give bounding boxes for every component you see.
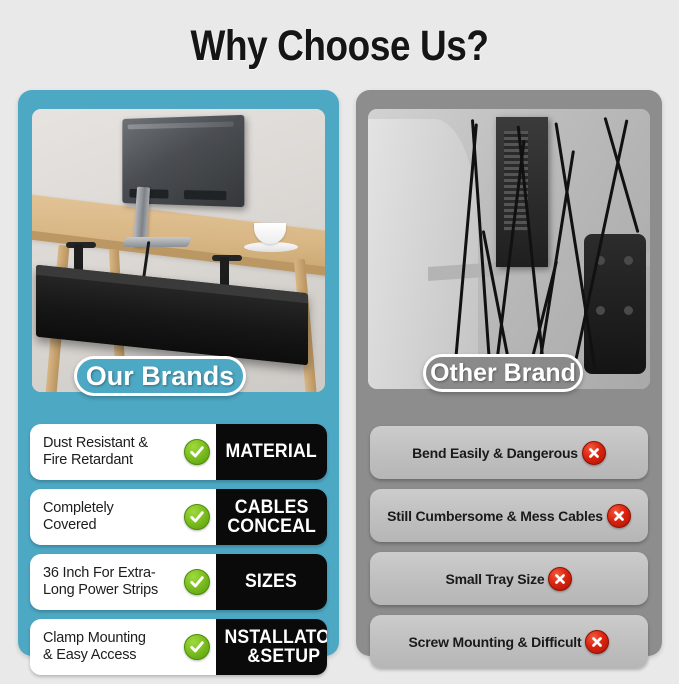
monitor-vent (184, 190, 226, 200)
feature-label-line1: Dust Resistant & (43, 435, 148, 451)
page-title: Why Choose Us? (48, 22, 632, 71)
feature-text-cell: Completely Covered (30, 489, 216, 545)
con-row: Small Tray Size (370, 552, 648, 605)
feature-label-line2: Long Power Strips (43, 582, 158, 598)
feature-tag-text: NSTALLATON&SETUP (224, 628, 327, 667)
feature-label: Completely Covered (43, 500, 114, 534)
feature-label-line2: & Easy Access (43, 647, 136, 663)
feature-label-line2: Fire Retardant (43, 452, 133, 468)
feature-text-cell: Dust Resistant & Fire Retardant (30, 424, 216, 480)
our-brands-feature-list: Dust Resistant & Fire Retardant MATERIAL… (30, 424, 327, 684)
our-brands-photo (32, 109, 325, 392)
box-screw (624, 256, 633, 265)
feature-label: Dust Resistant & Fire Retardant (43, 435, 148, 469)
feature-tag-text: CABLESCONCEAL (227, 498, 316, 537)
feature-tag-cell: MATERIAL (216, 424, 327, 480)
check-icon (184, 504, 210, 530)
feature-label: 36 Inch For Extra- Long Power Strips (43, 565, 158, 599)
box-screw (596, 306, 605, 315)
feature-label-line1: Clamp Mounting (43, 630, 146, 646)
feature-tag-text: SIZES (245, 572, 297, 591)
our-brands-badge: Our Brands (74, 356, 246, 396)
feature-text-cell: 36 Inch For Extra- Long Power Strips (30, 554, 216, 610)
other-brand-badge: Other Brand (423, 354, 583, 392)
con-label: Bend Easily & Dangerous (412, 445, 578, 461)
con-label: Small Tray Size (446, 571, 545, 587)
feature-tag-line1: CABLES (234, 497, 308, 518)
feature-tag-cell: SIZES (216, 554, 327, 610)
feature-label: Clamp Mounting & Easy Access (43, 630, 146, 664)
feature-text-cell: Clamp Mounting & Easy Access (30, 619, 216, 675)
feature-tag-cell: NSTALLATON&SETUP (216, 619, 327, 675)
check-icon (184, 569, 210, 595)
curtain (368, 119, 478, 389)
con-label: Still Cumbersome & Mess Cables (387, 508, 603, 524)
monitor-top-strip (128, 121, 234, 129)
other-brand-panel: Other Brand Bend Easily & Dangerous Stil… (356, 90, 662, 656)
feature-row: Clamp Mounting & Easy Access NSTALLATON&… (30, 619, 327, 675)
our-brands-panel: Our Brands Dust Resistant & Fire Retarda… (18, 90, 339, 656)
feature-tag-line2: CONCEAL (227, 516, 316, 537)
x-icon (585, 630, 609, 654)
x-icon (548, 567, 572, 591)
feature-row: Dust Resistant & Fire Retardant MATERIAL (30, 424, 327, 480)
feature-tag-line2: &SETUP (247, 646, 320, 667)
con-row: Still Cumbersome & Mess Cables (370, 489, 648, 542)
other-brand-con-list: Bend Easily & Dangerous Still Cumbersome… (370, 426, 648, 678)
other-brand-photo (368, 109, 650, 389)
feature-label-line2: Covered (43, 517, 96, 533)
feature-row: 36 Inch For Extra- Long Power Strips SIZ… (30, 554, 327, 610)
x-icon (607, 504, 631, 528)
con-row: Screw Mounting & Difficult (370, 615, 648, 668)
check-icon (184, 634, 210, 660)
box-screw (624, 306, 633, 315)
feature-tag-cell: CABLESCONCEAL (216, 489, 327, 545)
feature-tag-text: MATERIAL (226, 442, 317, 461)
feature-label-line1: Completely (43, 500, 114, 516)
feature-tag-line1: MATERIAL (226, 441, 317, 462)
monitor-stand-base (122, 237, 192, 247)
feature-label-line1: 36 Inch For Extra- (43, 565, 155, 581)
feature-tag-line1: NSTALLATON (224, 627, 327, 648)
feature-row: Completely Covered CABLESCONCEAL (30, 489, 327, 545)
x-icon (582, 441, 606, 465)
feature-tag-line1: SIZES (245, 571, 297, 592)
con-row: Bend Easily & Dangerous (370, 426, 648, 479)
check-icon (184, 439, 210, 465)
con-label: Screw Mounting & Difficult (409, 634, 582, 650)
